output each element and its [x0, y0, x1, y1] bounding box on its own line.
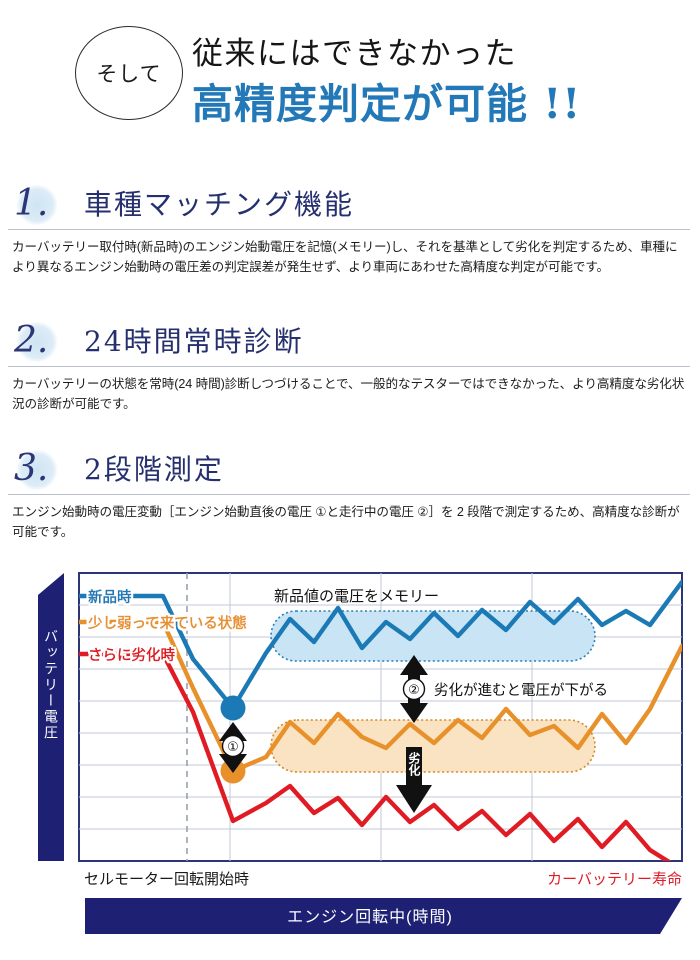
section-3-number: 3. [10, 446, 72, 492]
y-axis-banner: バッテリー電圧 [38, 573, 64, 861]
battery-voltage-chart: バッテリー電圧 [0, 565, 700, 960]
legend-slightly-weak: 少し弱って来ている状態 [87, 614, 247, 632]
section-2-heading: 2. 24時間常時診断 [8, 320, 690, 367]
section-2-title: 24時間常時診断 [84, 321, 304, 363]
section-1-body: カーバッテリー取付時(新品時)のエンジン始動電圧を記憶(メモリー)し、それを基準… [12, 237, 688, 278]
x-axis-banner: エンジン回転中(時間) [85, 898, 682, 934]
page-header: そして 従来にはできなかった 高精度判定が可能 !! [0, 0, 700, 155]
feature-section-3: 3. 2段階測定 エンジン始動時の電圧変動［エンジン始動直後の電圧 ①と走行中の… [0, 448, 700, 543]
feature-section-2: 2. 24時間常時診断 カーバッテリーの状態を常時(24 時間)診断しつづけるこ… [0, 320, 700, 415]
memory-note: 新品値の電圧をメモリー [274, 588, 439, 605]
legend-new-battery: 新品時 [88, 588, 132, 606]
new-battery-start-point[interactable] [221, 696, 246, 721]
headline-accent: 高精度判定が可能 !! [192, 70, 581, 130]
section-3-title: 2段階測定 [84, 449, 224, 491]
degradation-arrow-label: 劣化 [407, 751, 421, 777]
section-1-title: 車種マッチング機能 [84, 184, 354, 226]
battery-life-note: カーバッテリー寿命 [547, 870, 682, 888]
soshite-badge: そして [75, 26, 183, 120]
feature-section-1: 1. 車種マッチング機能 カーバッテリー取付時(新品時)のエンジン始動電圧を記憶… [0, 183, 700, 278]
headline-primary: 従来にはできなかった [192, 28, 517, 73]
starter-motor-note: セルモーター回転開始時 [84, 871, 249, 888]
section-3-heading: 3. 2段階測定 [8, 448, 690, 495]
section-2-number: 2. [10, 318, 72, 364]
section-2-body: カーバッテリーの状態を常時(24 時間)診断しつづけることで、一般的なテスターで… [12, 374, 688, 415]
arrow-2-label: ② [408, 682, 420, 697]
arrow-2-note: 劣化が進むと電圧が下がる [434, 682, 608, 699]
section-1-number-text: 1. [14, 181, 48, 227]
section-2-number-text: 2. [14, 318, 48, 364]
section-3-body: エンジン始動時の電圧変動［エンジン始動直後の電圧 ①と走行中の電圧 ②］を 2 … [12, 502, 688, 543]
arrow-1-label: ① [227, 739, 239, 754]
section-1-number: 1. [10, 181, 72, 227]
y-axis-label: バッテリー電圧 [43, 629, 59, 741]
section-1-heading: 1. 車種マッチング機能 [8, 183, 690, 230]
x-axis-label: エンジン回転中(時間) [287, 908, 453, 926]
legend-further-degraded: さらに劣化時 [88, 646, 175, 664]
section-3-number-text: 3. [14, 446, 48, 492]
chart-svg: バッテリー電圧 [0, 565, 700, 960]
